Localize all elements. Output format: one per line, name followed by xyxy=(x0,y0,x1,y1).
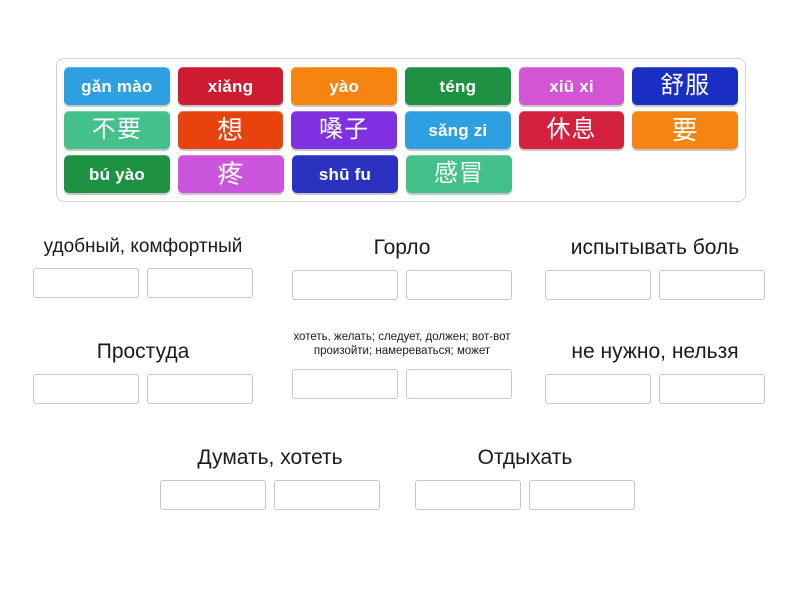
answer-slot-row xyxy=(530,270,780,300)
category-group: хотеть, желать; следует, должен; вот-вот… xyxy=(277,330,527,399)
tile-row: bú yào疼shū fu感冒 xyxy=(64,155,738,193)
category-label: Думать, хотеть xyxy=(145,446,395,470)
tile-row: 不要想嗓子sǎng zi休息要 xyxy=(64,111,738,149)
answer-slot[interactable] xyxy=(160,480,266,510)
category-group: Простуда xyxy=(18,340,268,404)
category-group: Думать, хотеть xyxy=(145,446,395,510)
category-label: Горло xyxy=(277,236,527,260)
word-tile-bank: gǎn màoxiǎngyàoténgxiū xi舒服不要想嗓子sǎng zi休… xyxy=(56,58,746,202)
word-tile[interactable]: 想 xyxy=(178,111,284,149)
word-tile[interactable]: bú yào xyxy=(64,155,170,193)
word-tile[interactable]: 嗓子 xyxy=(291,111,397,149)
answer-slot[interactable] xyxy=(529,480,635,510)
word-tile[interactable]: 舒服 xyxy=(632,67,738,105)
word-tile[interactable]: 休息 xyxy=(519,111,625,149)
answer-slot-row xyxy=(18,268,268,298)
answer-slot[interactable] xyxy=(415,480,521,510)
matching-activity-page: gǎn màoxiǎngyàoténgxiū xi舒服不要想嗓子sǎng zi休… xyxy=(0,0,800,600)
category-group: не нужно, нельзя xyxy=(530,340,780,404)
category-group: испытывать боль xyxy=(530,236,780,300)
answer-slot[interactable] xyxy=(33,268,139,298)
answer-slot[interactable] xyxy=(33,374,139,404)
category-label: испытывать боль xyxy=(530,236,780,260)
word-tile[interactable]: shū fu xyxy=(292,155,398,193)
category-label: Простуда xyxy=(18,340,268,364)
answer-slot[interactable] xyxy=(659,374,765,404)
word-tile[interactable]: gǎn mào xyxy=(64,67,170,105)
answer-slot[interactable] xyxy=(406,369,512,399)
answer-slot-row xyxy=(145,480,395,510)
word-tile[interactable]: xiǎng xyxy=(178,67,284,105)
answer-slot[interactable] xyxy=(292,369,398,399)
answer-slot[interactable] xyxy=(274,480,380,510)
category-label: не нужно, нельзя xyxy=(530,340,780,364)
answer-slot-row xyxy=(18,374,268,404)
category-label: удобный, комфортный xyxy=(18,236,268,258)
answer-slot[interactable] xyxy=(545,270,651,300)
category-group: удобный, комфортный xyxy=(18,236,268,298)
answer-slot-row xyxy=(277,369,527,399)
answer-slot-row xyxy=(277,270,527,300)
word-tile[interactable]: yào xyxy=(291,67,397,105)
word-tile[interactable]: xiū xi xyxy=(519,67,625,105)
word-tile[interactable]: 要 xyxy=(632,111,738,149)
category-label: хотеть, желать; следует, должен; вот-вот… xyxy=(277,330,527,359)
answer-slot[interactable] xyxy=(147,268,253,298)
answer-slot-row xyxy=(400,480,650,510)
answer-slot[interactable] xyxy=(406,270,512,300)
word-tile[interactable]: 疼 xyxy=(178,155,284,193)
tile-row: gǎn màoxiǎngyàoténgxiū xi舒服 xyxy=(64,67,738,105)
answer-slot[interactable] xyxy=(147,374,253,404)
word-tile[interactable]: 感冒 xyxy=(406,155,512,193)
answer-slot-row xyxy=(530,374,780,404)
word-tile[interactable]: sǎng zi xyxy=(405,111,511,149)
category-label: Отдыхать xyxy=(400,446,650,470)
category-group: Отдыхать xyxy=(400,446,650,510)
word-tile[interactable]: téng xyxy=(405,67,511,105)
category-group: Горло xyxy=(277,236,527,300)
answer-slot[interactable] xyxy=(659,270,765,300)
word-tile[interactable]: 不要 xyxy=(64,111,170,149)
answer-slot[interactable] xyxy=(545,374,651,404)
answer-slot[interactable] xyxy=(292,270,398,300)
